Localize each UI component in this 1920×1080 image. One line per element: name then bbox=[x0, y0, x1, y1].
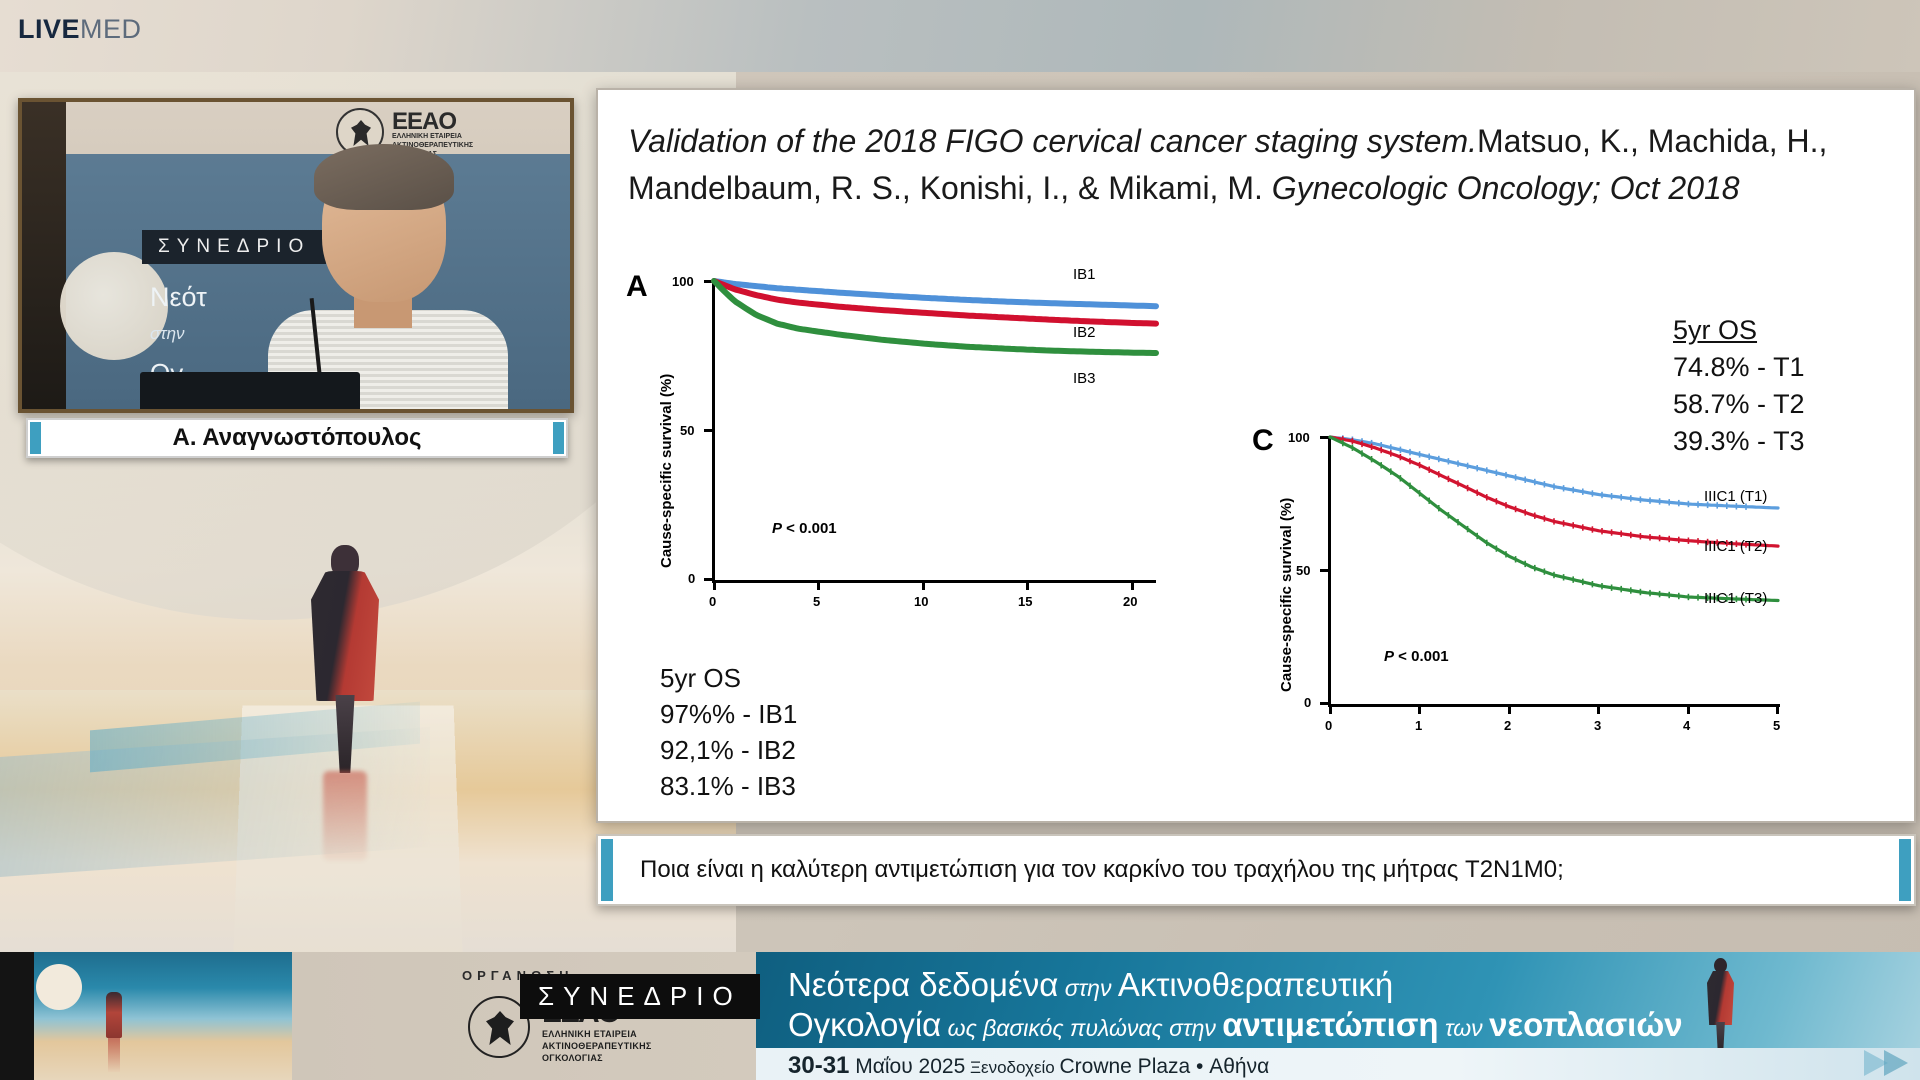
banner-l1-small: στην bbox=[1058, 975, 1118, 1001]
chart-c-legend-t3: IIIC1 (T3) bbox=[1704, 590, 1767, 607]
os-summary-panel-a: 5yr OS 97%% - IB1 92,1% - IB2 83.1% - IB… bbox=[660, 660, 797, 804]
chart-a-legend-ib3: IB3 bbox=[1073, 370, 1096, 387]
figure-reflection bbox=[323, 771, 367, 861]
speaker-video[interactable]: EEAO ΕΛΛΗΝΙΚΗ ΕΤΑΙΡΕΙΑΑΚΤΙΝΟΘΕΡΑΠΕΥΤΙΚΗΣ… bbox=[18, 98, 574, 413]
banner-title-line1: Νεότερα δεδομένα στην Ακτινοθεραπευτική bbox=[788, 966, 1393, 1004]
chart-panel-a: A Cause-specific survival (%) 100 50 0 0… bbox=[626, 268, 1166, 638]
background-figure bbox=[285, 545, 405, 775]
os-c-header: 5yr OS bbox=[1673, 312, 1805, 349]
slide-title-italic-1: Validation of the 2018 FIGO cervical can… bbox=[628, 123, 1477, 159]
conference-banner: ΟΡΓΑΝΩΣΗ EEAO ΕΛΛΗΝΙΚΗ ΕΤΑΙΡΕΙΑ ΑΚΤΙΝΟΘΕ… bbox=[0, 952, 1920, 1080]
banner-l2-small-b: των bbox=[1439, 1015, 1489, 1041]
banner-venue-prefix: Ξενοδοχείο bbox=[965, 1058, 1059, 1077]
banner-date-days: 30-31 bbox=[788, 1052, 849, 1079]
presentation-slide: Validation of the 2018 FIGO cervical can… bbox=[596, 88, 1916, 823]
os-c-row-0: 74.8% - T1 bbox=[1673, 349, 1805, 386]
figure-coat bbox=[311, 571, 379, 701]
banner-l1-tail: Ακτινοθεραπευτική bbox=[1118, 966, 1393, 1003]
chart-c-legend-t1: IIIC1 (T1) bbox=[1704, 488, 1767, 505]
livemed-live: LIVE bbox=[18, 14, 80, 44]
chart-c-legend-t2: IIIC1 (T2) bbox=[1704, 538, 1767, 555]
banner-l1-main: Νεότερα δεδομένα bbox=[788, 966, 1058, 1003]
banner-eeao-sub3: ΟΓΚΟΛΟΓΙΑΣ bbox=[542, 1053, 603, 1063]
speaker-name-plate: Α. Αναγνωστόπουλος bbox=[26, 418, 568, 458]
os-a-row-1: 92,1% - IB2 bbox=[660, 732, 797, 768]
banner-badge: ΣΥΝΕΔΡΙΟ bbox=[520, 974, 760, 1019]
banner-l2-main: Ογκολογία bbox=[788, 1006, 941, 1043]
banner-date-year: 2025 bbox=[919, 1055, 966, 1078]
banner-eeao-sub1: ΕΛΛΗΝΙΚΗ ΕΤΑΙΡΕΙΑ bbox=[542, 1029, 637, 1039]
os-c-row-1: 58.7% - T2 bbox=[1673, 386, 1805, 423]
os-a-header: 5yr OS bbox=[660, 660, 797, 696]
banner-eeao-subtext: ΕΛΛΗΝΙΚΗ ΕΤΑΙΡΕΙΑ ΑΚΤΙΝΟΘΕΡΑΠΕΥΤΙΚΗΣ ΟΓΚ… bbox=[542, 1028, 652, 1064]
banner-title-block: ΣΥΝΕΔΡΙΟ Νεότερα δεδομένα στην Ακτινοθερ… bbox=[756, 952, 1920, 1080]
banner-date-bar: 30-31 Μαΐου 2025 Ξενοδοχείο Crowne Plaza… bbox=[756, 1048, 1920, 1080]
figure-legs bbox=[333, 695, 357, 773]
chart-c-pvalue: P < 0.001 bbox=[1384, 648, 1449, 665]
banner-artwork-figure bbox=[106, 992, 122, 1038]
banner-venue: Crowne Plaza • Αθήνα bbox=[1059, 1055, 1269, 1078]
banner-l2-bold-a: αντιμετώπιση bbox=[1222, 1006, 1438, 1043]
slide-title: Validation of the 2018 FIGO cervical can… bbox=[628, 118, 1880, 212]
livemed-med: MED bbox=[80, 14, 142, 44]
laptop-icon bbox=[140, 372, 360, 413]
chart-a-legend-ib1: IB1 bbox=[1073, 266, 1096, 283]
slide-title-italic-2: Gynecologic Oncology; Oct 2018 bbox=[1272, 170, 1740, 206]
banner-l2-bold-b: νεοπλασιών bbox=[1489, 1006, 1683, 1043]
video-left-curtain bbox=[22, 102, 66, 409]
chart-a-legend-ib2: IB2 bbox=[1073, 324, 1096, 341]
speaker-hair bbox=[314, 144, 454, 210]
os-c-row-2: 39.3% - T3 bbox=[1673, 423, 1805, 460]
banner-title-line2: Ογκολογία ως βασικός πυλώνας στην αντιμε… bbox=[788, 1006, 1683, 1044]
banner-figure-coat bbox=[1707, 971, 1734, 1025]
question-banner: Ποια είναι η καλύτερη αντιμετώπιση για τ… bbox=[596, 834, 1916, 906]
os-a-row-2: 83.1% - IB3 bbox=[660, 768, 797, 804]
chart-a-pvalue: P < 0.001 bbox=[772, 520, 837, 537]
video-backdrop-line1: Νεότ bbox=[150, 282, 207, 313]
background-top-band bbox=[0, 0, 1920, 72]
banner-date-month: Μαΐου bbox=[849, 1055, 918, 1078]
banner-figure-head bbox=[1714, 958, 1727, 973]
banner-artwork bbox=[0, 952, 292, 1080]
banner-eeao-sub2: ΑΚΤΙΝΟΘΕΡΑΠΕΥΤΙΚΗΣ bbox=[542, 1041, 652, 1051]
os-summary-panel-c: 5yr OS 74.8% - T1 58.7% - T2 39.3% - T3 bbox=[1673, 312, 1805, 460]
banner-artwork-sun bbox=[36, 964, 82, 1010]
banner-l2-small-a: ως βασικός πυλώνας στην bbox=[941, 1015, 1222, 1041]
os-a-row-0: 97%% - IB1 bbox=[660, 696, 797, 732]
livemed-logo: LIVEMED bbox=[18, 14, 142, 45]
video-backdrop-line2: στην bbox=[150, 324, 185, 344]
banner-artwork-figure-reflection bbox=[108, 1038, 120, 1072]
speaker-name-label: Α. Αναγνωστόπουλος bbox=[173, 424, 422, 452]
question-text: Ποια είναι η καλύτερη αντιμετώπιση για τ… bbox=[640, 856, 1564, 884]
banner-arrow-icon bbox=[1862, 1048, 1916, 1078]
banner-artwork-edge bbox=[0, 952, 34, 1080]
banner-date-text: 30-31 Μαΐου 2025 Ξενοδοχείο Crowne Plaza… bbox=[788, 1052, 1269, 1080]
